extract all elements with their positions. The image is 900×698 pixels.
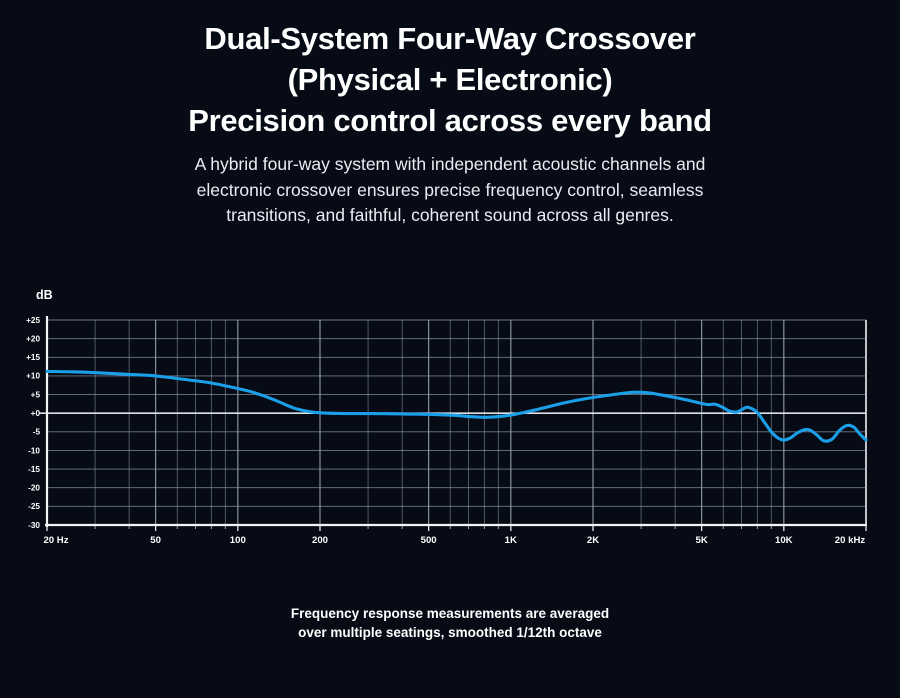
x-axis-tick-label: 20 kHz xyxy=(835,535,866,546)
frequency-response-infographic: Dual-System Four-Way Crossover (Physical… xyxy=(0,0,900,698)
y-axis-tick-label: +15 xyxy=(26,353,40,362)
x-axis-tick-labels: 20 Hz501002005001K2K5K10K20 kHz xyxy=(43,535,865,546)
page-subtitle: A hybrid four-way system with independen… xyxy=(0,141,900,229)
x-axis-tick-label: 2K xyxy=(587,535,599,546)
response-curve xyxy=(47,371,866,441)
page-title: Dual-System Four-Way Crossover (Physical… xyxy=(0,18,900,141)
frequency-response-plot: dB +25+20+15+10+5+0-5-10-15-20-25-30 20 … xyxy=(0,281,900,551)
grid-horizontal xyxy=(47,320,866,525)
x-axis-tick-label: 200 xyxy=(312,535,328,546)
chart-footnote: Frequency response measurements are aver… xyxy=(0,604,900,642)
y-axis-tick-label: -5 xyxy=(33,428,41,437)
grid-major-vertical xyxy=(47,320,866,525)
page-subtitle-line-2: electronic crossover ensures precise fre… xyxy=(88,178,812,204)
y-axis-tick-label: -20 xyxy=(28,484,40,493)
y-axis-tick-label: -10 xyxy=(28,446,40,455)
page-title-line-2: (Physical + Electronic) xyxy=(60,59,840,100)
axis-lines xyxy=(45,316,867,527)
x-axis-tick-label: 50 xyxy=(150,535,161,546)
x-axis-tick-label: 5K xyxy=(696,535,708,546)
header-section: Dual-System Four-Way Crossover (Physical… xyxy=(0,0,900,229)
y-axis-tick-label: +0 xyxy=(31,409,41,418)
y-axis-tick-label: +20 xyxy=(26,334,40,343)
chart-footnote-line-2: over multiple seatings, smoothed 1/12th … xyxy=(0,623,900,642)
y-axis-tick-label: -25 xyxy=(28,502,40,511)
y-axis-tick-label: +10 xyxy=(26,372,40,381)
page-subtitle-line-1: A hybrid four-way system with independen… xyxy=(88,152,812,178)
y-axis-unit-label: dB xyxy=(36,288,53,302)
x-axis-tick-label: 1K xyxy=(505,535,517,546)
y-axis-tick-label: -15 xyxy=(28,465,40,474)
x-axis-tick-label: 100 xyxy=(230,535,246,546)
y-axis-tick-label: -30 xyxy=(28,521,40,530)
grid-minor-vertical xyxy=(95,320,771,525)
y-axis-tick-labels: +25+20+15+10+5+0-5-10-15-20-25-30 xyxy=(26,316,40,530)
x-axis-tick-label: 20 Hz xyxy=(43,535,68,546)
x-axis-tick-label: 10K xyxy=(775,535,793,546)
chart-footnote-line-1: Frequency response measurements are aver… xyxy=(0,604,900,623)
x-axis-tick-label: 500 xyxy=(421,535,437,546)
frequency-response-chart: dB +25+20+15+10+5+0-5-10-15-20-25-30 20 … xyxy=(0,281,900,551)
page-title-line-1: Dual-System Four-Way Crossover xyxy=(60,18,840,59)
y-axis-tick-label: +5 xyxy=(31,390,41,399)
page-title-line-3: Precision control across every band xyxy=(60,100,840,141)
page-subtitle-line-3: transitions, and faithful, coherent soun… xyxy=(88,203,812,229)
response-curve-path xyxy=(47,371,866,441)
y-axis-tick-label: +25 xyxy=(26,316,40,325)
